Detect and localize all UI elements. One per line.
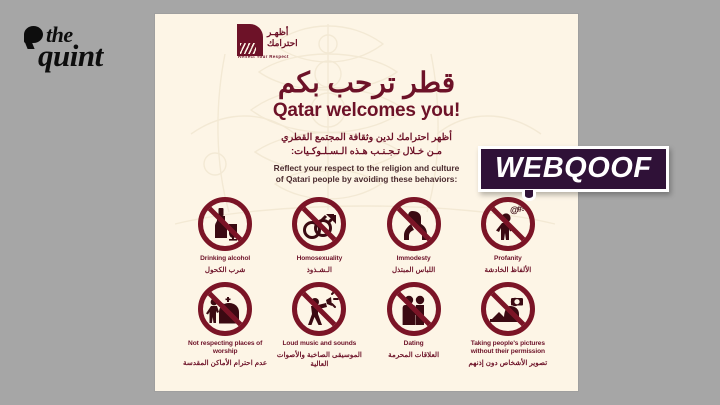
poster-title-arabic: قطر ترحب بكم — [181, 68, 552, 99]
publisher-logo-line2: quint — [38, 40, 103, 71]
prohibition-label-en: Drinking alcohol — [200, 255, 250, 263]
prohibition-label-en: Dating — [404, 340, 424, 348]
poster-title-english: Qatar welcomes you! — [181, 101, 552, 122]
webqoof-badge-plate: WEBQOOF — [478, 146, 669, 192]
prohibition-label-ar: تصوير الأشخاص دون إذنهم — [468, 358, 547, 367]
prohibition-item: @ # ! * Profanity الألفاظ الخادشة — [464, 197, 552, 274]
organisation-logo-arabic-line2: احترامك — [267, 38, 298, 49]
no-dating-icon — [387, 282, 441, 336]
no-alcohol-icon — [198, 197, 252, 251]
no-disrespecting-worship-places-icon — [198, 282, 252, 336]
poster-subtitle-arabic-line1: أظهر احترامك لدين وثقافة المجتمع القطري — [181, 131, 552, 145]
prohibition-item: Loud music and sounds الموسيقى الصاخبة و… — [275, 282, 363, 368]
prohibition-item: Drinking alcohol شرب الكحول — [181, 197, 269, 274]
prohibition-label-ar: الموسيقى الصاخبة والأصوات العالية — [275, 350, 363, 369]
organisation-logo: أظهـر احترامك Reflect Your Respect — [237, 24, 315, 64]
prohibition-label-en: Immodesty — [397, 255, 431, 263]
prohibition-label-en: Loud music and sounds — [283, 340, 357, 348]
prohibition-label-ar: عدم احترام الأماكن المقدسة — [183, 358, 267, 367]
prohibition-label-ar: الـشـذوذ — [307, 265, 332, 274]
prohibition-label-en: Profanity — [494, 255, 522, 263]
prohibition-label-en: Not respecting places of worship — [181, 340, 269, 356]
poster-image: أظهـر احترامك Reflect Your Respect قطر ت… — [155, 14, 578, 391]
webqoof-badge: WEBQOOF — [478, 146, 669, 192]
prohibition-item: Taking people's pictures without their p… — [464, 282, 552, 368]
organisation-tagline: Reflect Your Respect — [238, 54, 289, 59]
svg-text:*: * — [524, 205, 528, 215]
prohibition-label-en: Homosexuality — [297, 255, 343, 263]
prohibition-label-ar: اللباس المبتذل — [392, 265, 435, 274]
prohibition-label-en: Taking people's pictures without their p… — [464, 340, 552, 356]
prohibition-grid-row-1: Drinking alcohol شرب الكحول — [181, 197, 552, 274]
prohibition-item: Homosexuality الـشـذوذ — [275, 197, 363, 274]
no-profanity-icon: @ # ! * — [481, 197, 535, 251]
prohibition-grid-row-2: Not respecting places of worship عدم احت… — [181, 282, 552, 368]
prohibition-label-ar: الألفاظ الخادشة — [484, 265, 531, 274]
qatar-flag-mark-icon — [237, 24, 263, 56]
organisation-logo-arabic-line1: أظهـر — [267, 27, 288, 38]
prohibition-label-ar: شرب الكحول — [205, 265, 245, 274]
webqoof-badge-tail — [522, 190, 536, 201]
no-photography-without-permission-icon — [481, 282, 535, 336]
prohibition-item: Immodesty اللباس المبتذل — [370, 197, 458, 274]
no-immodesty-icon — [387, 197, 441, 251]
webqoof-badge-label: WEBQOOF — [495, 154, 652, 183]
prohibition-label-ar: العلاقات المحرمة — [388, 350, 439, 359]
prohibition-item: Dating العلاقات المحرمة — [370, 282, 458, 368]
prohibition-item: Not respecting places of worship عدم احت… — [181, 282, 269, 368]
no-homosexuality-icon — [292, 197, 346, 251]
publisher-logo: the quint — [24, 18, 134, 76]
no-loud-music-icon — [292, 282, 346, 336]
